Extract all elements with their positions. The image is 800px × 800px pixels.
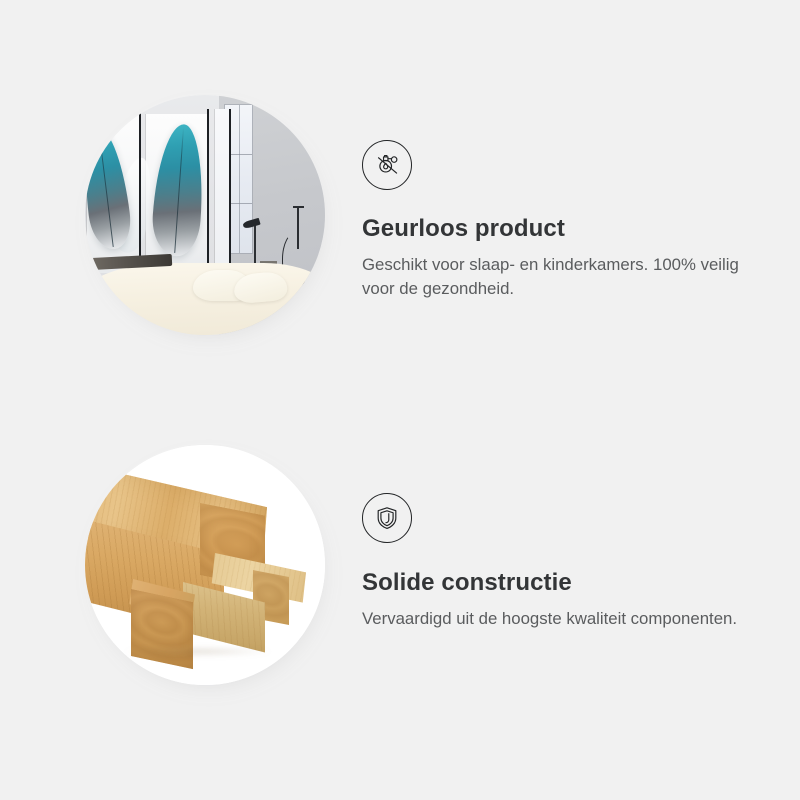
feature-description: Vervaardigd uit de hoogste kwaliteit com… (362, 607, 742, 631)
window-mullion (239, 105, 240, 254)
feature-description: Geschikt voor slaap- en kinderkamers. 10… (362, 253, 742, 301)
canvas-panel-right (215, 109, 231, 277)
canvas-frame-edge-3 (229, 109, 231, 277)
canvas-frame-edge-2 (207, 109, 209, 277)
feature-image-bedroom-feather-canvas-photo (85, 95, 325, 335)
feature-title: Solide constructie (362, 569, 762, 598)
canvas-frame-edge-1 (139, 109, 141, 277)
feature-content: Geurloos product Geschikt voor slaap- en… (362, 95, 762, 300)
feature-content: Solide constructie Vervaardigd uit de ho… (362, 445, 762, 631)
circular-photo-frame (85, 445, 325, 685)
wall-lamp-arm (297, 208, 298, 249)
shield-icon (362, 493, 412, 543)
bedroom-scene (85, 95, 325, 335)
feature-image-wooden-blocks-photo (85, 445, 325, 685)
feature-title: Geurloos product (362, 215, 762, 244)
cube-end-grain (131, 589, 193, 669)
circular-photo-frame (85, 95, 325, 335)
no-perfume-icon (362, 140, 412, 190)
contact-shadow (123, 647, 272, 657)
wooden-blocks-scene (85, 445, 325, 685)
feature-list-page: Geurloos product Geschikt voor slaap- en… (0, 0, 800, 800)
lamp-stem (254, 225, 255, 263)
